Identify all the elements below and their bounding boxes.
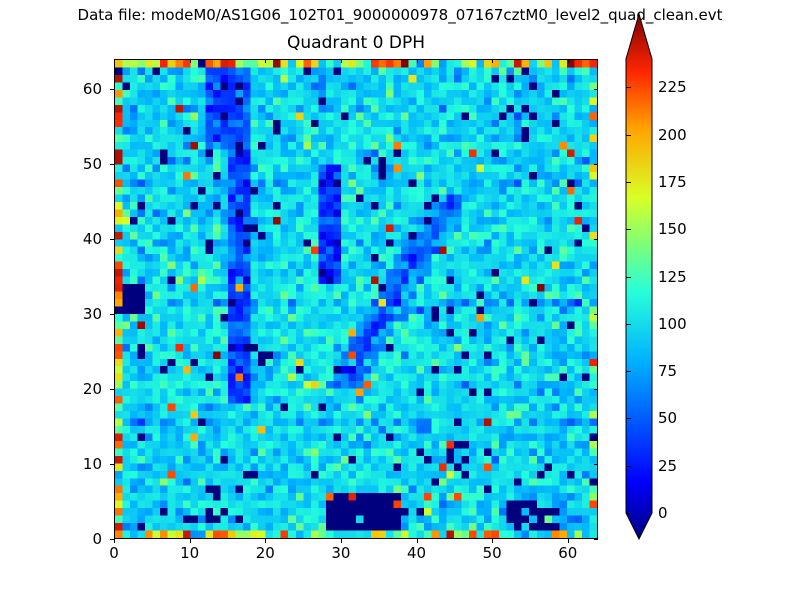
x-tick bbox=[492, 59, 493, 63]
x-tick bbox=[492, 539, 493, 543]
x-tick-label: 60 bbox=[558, 544, 577, 562]
y-tick bbox=[594, 239, 598, 240]
x-tick-label: 10 bbox=[180, 544, 199, 562]
colorbar-tick bbox=[626, 277, 631, 278]
colorbar[interactable] bbox=[626, 59, 652, 539]
y-tick bbox=[594, 89, 598, 90]
colorbar-tick-label: 25 bbox=[658, 457, 677, 475]
y-tick bbox=[594, 464, 598, 465]
x-tick bbox=[568, 539, 569, 543]
y-tick bbox=[110, 89, 114, 90]
y-tick-label: 60 bbox=[2, 80, 102, 98]
colorbar-tick bbox=[626, 324, 631, 325]
y-tick-label: 10 bbox=[2, 455, 102, 473]
y-tick-label: 30 bbox=[2, 305, 102, 323]
colorbar-tick-label: 200 bbox=[658, 126, 687, 144]
x-tick bbox=[265, 539, 266, 543]
y-tick-label: 20 bbox=[2, 380, 102, 398]
colorbar-tick bbox=[626, 135, 631, 136]
x-tick bbox=[568, 59, 569, 63]
y-tick bbox=[110, 539, 114, 540]
x-tick bbox=[417, 539, 418, 543]
data-file-suptitle: Data file: modeM0/AS1G06_102T01_90000009… bbox=[0, 6, 800, 24]
y-tick bbox=[110, 164, 114, 165]
heatmap-axes[interactable] bbox=[114, 59, 598, 539]
colorbar-gradient bbox=[625, 13, 653, 553]
figure-canvas: Data file: modeM0/AS1G06_102T01_90000009… bbox=[0, 0, 800, 600]
colorbar-tick-label: 75 bbox=[658, 362, 677, 380]
y-tick bbox=[110, 389, 114, 390]
colorbar-tick-label: 100 bbox=[658, 315, 687, 333]
colorbar-tick bbox=[626, 87, 631, 88]
y-tick-label: 40 bbox=[2, 230, 102, 248]
x-tick-label: 20 bbox=[256, 544, 275, 562]
x-tick bbox=[114, 539, 115, 543]
y-tick bbox=[110, 314, 114, 315]
y-tick bbox=[110, 239, 114, 240]
colorbar-tick bbox=[626, 418, 631, 419]
x-tick bbox=[341, 59, 342, 63]
y-tick bbox=[594, 314, 598, 315]
x-tick bbox=[190, 539, 191, 543]
colorbar-tick bbox=[626, 229, 631, 230]
colorbar-tick bbox=[626, 513, 631, 514]
detector-heatmap-image[interactable] bbox=[115, 60, 597, 538]
x-tick-label: 30 bbox=[331, 544, 350, 562]
x-tick bbox=[341, 539, 342, 543]
colorbar-tick bbox=[626, 182, 631, 183]
colorbar-tick-label: 175 bbox=[658, 173, 687, 191]
colorbar-tick-label: 50 bbox=[658, 409, 677, 427]
colorbar-tick bbox=[626, 466, 631, 467]
colorbar-tick-label: 225 bbox=[658, 78, 687, 96]
colorbar-tick-label: 125 bbox=[658, 268, 687, 286]
colorbar-tick-label: 0 bbox=[658, 504, 668, 522]
y-tick bbox=[594, 164, 598, 165]
x-tick bbox=[417, 59, 418, 63]
plot-title: Quadrant 0 DPH bbox=[114, 33, 598, 53]
y-tick bbox=[110, 464, 114, 465]
x-tick bbox=[265, 59, 266, 63]
x-tick-label: 40 bbox=[407, 544, 426, 562]
x-tick-label: 0 bbox=[109, 544, 119, 562]
x-tick bbox=[114, 59, 115, 63]
x-tick bbox=[190, 59, 191, 63]
y-tick-label: 50 bbox=[2, 155, 102, 173]
y-tick bbox=[594, 539, 598, 540]
colorbar-tick bbox=[626, 371, 631, 372]
colorbar-tick-label: 150 bbox=[658, 220, 687, 238]
y-tick-label: 0 bbox=[2, 530, 102, 548]
x-tick-label: 50 bbox=[483, 544, 502, 562]
y-tick bbox=[594, 389, 598, 390]
